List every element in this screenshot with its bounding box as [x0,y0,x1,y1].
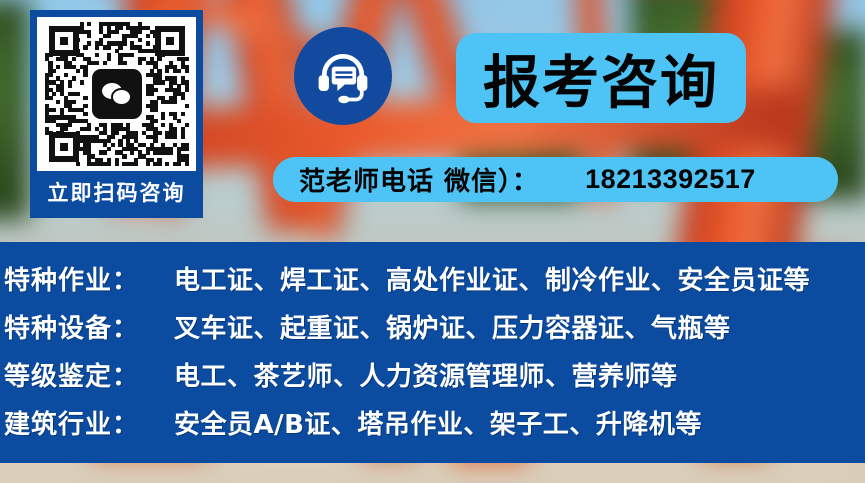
qr-code-image[interactable] [37,17,196,171]
course-list-panel: 特种作业： 电工证、焊工证、高处作业证、制冷作业、安全员证等 特种设备： 叉车证… [0,242,865,463]
course-row: 建筑行业： 安全员A/B证、塔吊作业、架子工、升降机等 [4,404,865,452]
contact-label: 范老师电话 微信）： [299,161,539,198]
course-row: 特种设备： 叉车证、起重证、锅炉证、压力容器证、气瓶等 [4,308,865,356]
qr-matrix [45,22,189,166]
promo-poster: 立即扫码咨询 报考咨询 范老师电话 微信）： 18213392517 特种作业：… [0,0,865,483]
wechat-icon [92,69,142,119]
course-items: 叉车证、起重证、锅炉证、压力容器证、气瓶等 [174,308,731,345]
course-category-label: 建筑行业： [4,404,174,441]
course-row: 特种作业： 电工证、焊工证、高处作业证、制冷作业、安全员证等 [4,260,865,308]
course-items: 电工、茶艺师、人力资源管理师、营养师等 [174,356,678,393]
page-title: 报考咨询 [483,37,719,119]
headset-support-icon [294,27,392,125]
course-items: 电工证、焊工证、高处作业证、制冷作业、安全员证等 [174,260,810,297]
course-category-label: 特种设备： [4,308,174,345]
course-category-label: 特种作业： [4,260,174,297]
course-items: 安全员A/B证、塔吊作业、架子工、升降机等 [174,404,702,441]
contact-badge[interactable]: 范老师电话 微信）： 18213392517 [273,157,838,202]
course-row: 等级鉴定： 电工、茶艺师、人力资源管理师、营养师等 [4,356,865,404]
title-badge: 报考咨询 [456,33,746,123]
qr-card-caption: 立即扫码咨询 [37,171,196,215]
qr-code-card[interactable]: 立即扫码咨询 [30,10,203,218]
contact-number[interactable]: 18213392517 [585,164,756,195]
course-category-label: 等级鉴定： [4,356,174,393]
